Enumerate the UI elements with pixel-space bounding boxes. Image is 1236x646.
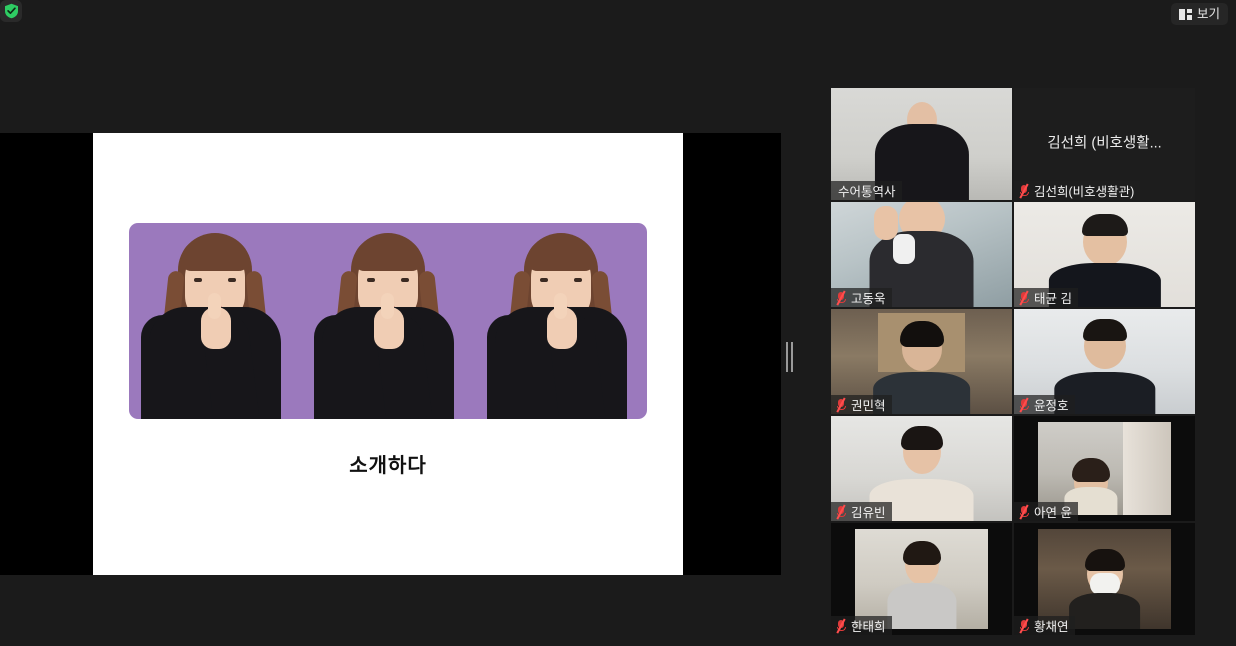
filmstrip-row: 김유빈 아연 윤	[831, 416, 1195, 521]
filmstrip-row: 권민혁 윤정호	[831, 309, 1195, 414]
participant-name: 윤정호	[1034, 395, 1069, 414]
shared-screen-area: 소개하다	[0, 133, 781, 575]
participant-filmstrip[interactable]: 수어통역사 김선희 (비호생활... 김선희(비호생활관)	[831, 88, 1195, 637]
sign-language-frame	[129, 223, 302, 419]
filmstrip-row: 한태희 황채연	[831, 523, 1195, 635]
participant-name-badge: 김유빈	[831, 502, 892, 521]
participant-name-badge: 수어통역사	[831, 181, 902, 200]
participant-name-badge: 고동욱	[831, 288, 892, 307]
shield-check-icon[interactable]	[0, 0, 22, 22]
panel-resize-handle[interactable]	[785, 340, 793, 374]
participant-name-badge: 한태희	[831, 616, 892, 635]
mic-muted-icon	[835, 291, 847, 305]
participant-name-badge: 아연 윤	[1014, 502, 1078, 521]
mic-muted-icon	[1018, 398, 1030, 412]
layout-grid-icon	[1179, 9, 1192, 20]
participant-tile[interactable]: 태균 김	[1014, 202, 1195, 307]
mic-muted-icon	[835, 619, 847, 633]
participant-tile[interactable]: 수어통역사	[831, 88, 1012, 200]
participant-display-name: 김선희 (비호생활...	[1014, 131, 1195, 152]
participant-name: 고동욱	[851, 288, 886, 307]
view-button-label: 보기	[1197, 8, 1220, 21]
mic-muted-icon	[1018, 291, 1030, 305]
participant-name: 한태희	[851, 616, 886, 635]
participant-name-badge: 윤정호	[1014, 395, 1075, 414]
participant-name: 권민혁	[851, 395, 886, 414]
participant-tile[interactable]: 권민혁	[831, 309, 1012, 414]
presentation-slide: 소개하다	[93, 133, 683, 575]
sign-language-image-strip	[129, 223, 647, 419]
view-layout-button[interactable]: 보기	[1171, 3, 1228, 25]
mic-muted-icon	[1018, 619, 1030, 633]
participant-name: 김선희(비호생활관)	[1034, 181, 1134, 200]
participant-name-badge: 권민혁	[831, 395, 892, 414]
top-bar: 보기	[0, 0, 1236, 28]
participant-tile[interactable]: 황채연	[1014, 523, 1195, 635]
participant-name: 수어통역사	[838, 181, 896, 200]
participant-name: 아연 윤	[1034, 502, 1072, 521]
sign-language-frame	[302, 223, 475, 419]
mic-muted-icon	[1018, 505, 1030, 519]
participant-tile[interactable]: 고동욱	[831, 202, 1012, 307]
participant-name: 김유빈	[851, 502, 886, 521]
participant-video	[855, 529, 988, 629]
participant-video	[1038, 529, 1171, 629]
sign-language-frame	[474, 223, 647, 419]
participant-tile[interactable]: 김선희 (비호생활... 김선희(비호생활관)	[1014, 88, 1195, 200]
participant-name-badge: 태균 김	[1014, 288, 1078, 307]
participant-name: 태균 김	[1034, 288, 1072, 307]
filmstrip-row: 고동욱 태균 김	[831, 202, 1195, 307]
participant-tile[interactable]: 한태희	[831, 523, 1012, 635]
participant-tile[interactable]: 윤정호	[1014, 309, 1195, 414]
mic-muted-icon	[1018, 184, 1030, 198]
mic-muted-icon	[835, 398, 847, 412]
participant-name-badge: 김선희(비호생활관)	[1014, 181, 1140, 200]
slide-caption: 소개하다	[349, 449, 427, 478]
meeting-window: 보기	[0, 0, 1236, 646]
participant-tile[interactable]: 김유빈	[831, 416, 1012, 521]
participant-tile[interactable]: 아연 윤	[1014, 416, 1195, 521]
participant-name-badge: 황채연	[1014, 616, 1075, 635]
participant-name: 황채연	[1034, 616, 1069, 635]
mic-muted-icon	[835, 505, 847, 519]
filmstrip-row: 수어통역사 김선희 (비호생활... 김선희(비호생활관)	[831, 88, 1195, 200]
